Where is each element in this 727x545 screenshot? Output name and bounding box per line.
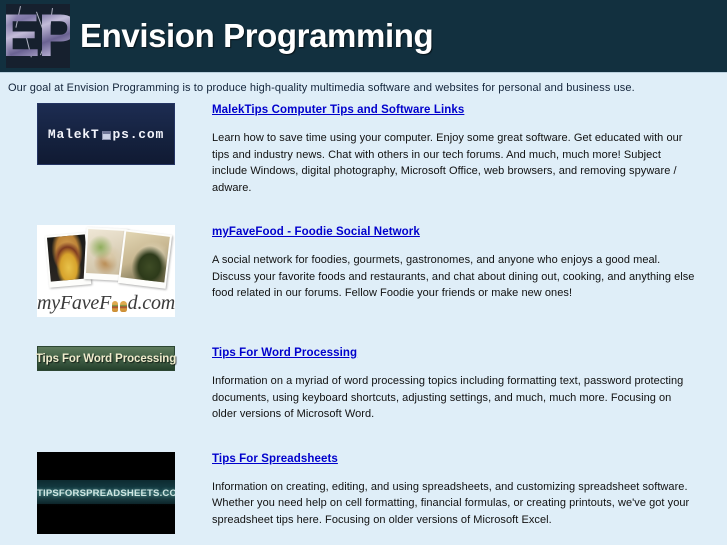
entry-thumbnail[interactable]: MalekTps.com <box>37 103 175 165</box>
list-item: TIPSFORSPREADSHEETS.COM Tips For Spreads… <box>0 452 727 534</box>
list-item: Tips For Word Processing Tips For Word P… <box>0 346 727 423</box>
entry-description: A social network for foodies, gourmets, … <box>212 252 697 302</box>
site-title: Envision Programming <box>80 17 433 55</box>
entry-body: Tips For Spreadsheets Information on cre… <box>212 452 707 529</box>
entry-description: Learn how to save time using your comput… <box>212 130 697 196</box>
entry-link[interactable]: myFaveFood - Foodie Social Network <box>212 226 420 238</box>
meal-photo-icon <box>118 229 172 288</box>
entry-description: Information on a myriad of word processi… <box>212 373 697 423</box>
burger-icon <box>112 301 118 312</box>
malektips-text-before: MalekT <box>48 127 100 142</box>
myfavefood-text-after: d.com <box>128 292 175 315</box>
ep-monogram-icon: EP <box>6 4 70 68</box>
entry-link[interactable]: Tips For Spreadsheets <box>212 453 338 465</box>
header-inner: EP Envision Programming <box>0 0 727 72</box>
myfavefood-text-before: myFaveF <box>37 292 111 315</box>
site-tagline: Our goal at Envision Programming is to p… <box>0 73 727 103</box>
entry-description: Information on creating, editing, and us… <box>212 479 697 529</box>
tips-for-word-processing-logo-text: Tips For Word Processing <box>36 353 176 365</box>
list-item: myFaveFd.com myFaveFood - Foodie Social … <box>0 225 727 317</box>
entry-body: Tips For Word Processing Information on … <box>212 346 707 423</box>
window-icon <box>102 131 111 140</box>
entry-link[interactable]: Tips For Word Processing <box>212 347 357 359</box>
entry-link[interactable]: MalekTips Computer Tips and Software Lin… <box>212 104 464 116</box>
entry-thumbnail[interactable]: TIPSFORSPREADSHEETS.COM <box>37 452 175 534</box>
burger-icon <box>120 301 126 312</box>
tips-for-spreadsheets-logo-text: TIPSFORSPREADSHEETS.COM <box>37 488 175 499</box>
myfavefood-logo-text: myFaveFd.com <box>37 292 175 315</box>
ep-monogram-label: EP <box>6 4 70 68</box>
list-item: MalekTps.com MalekTips Computer Tips and… <box>0 103 727 196</box>
malektips-text-after: ps.com <box>113 127 165 142</box>
malektips-logo[interactable]: MalekTps.com <box>37 103 175 165</box>
tips-for-spreadsheets-logo[interactable]: TIPSFORSPREADSHEETS.COM <box>37 452 175 534</box>
site-header: EP Envision Programming <box>0 0 727 72</box>
entry-thumbnail[interactable]: myFaveFd.com <box>37 225 175 317</box>
entry-body: myFaveFood - Foodie Social Network A soc… <box>212 225 707 302</box>
entry-thumbnail[interactable]: Tips For Word Processing <box>37 346 175 371</box>
polaroid-photos <box>37 228 175 284</box>
entry-list: MalekTps.com MalekTips Computer Tips and… <box>0 103 727 534</box>
entry-body: MalekTips Computer Tips and Software Lin… <box>212 103 707 196</box>
tips-for-word-processing-logo[interactable]: Tips For Word Processing <box>37 346 175 371</box>
myfavefood-logo[interactable]: myFaveFd.com <box>37 225 175 317</box>
malektips-logo-text: MalekTps.com <box>48 127 164 142</box>
